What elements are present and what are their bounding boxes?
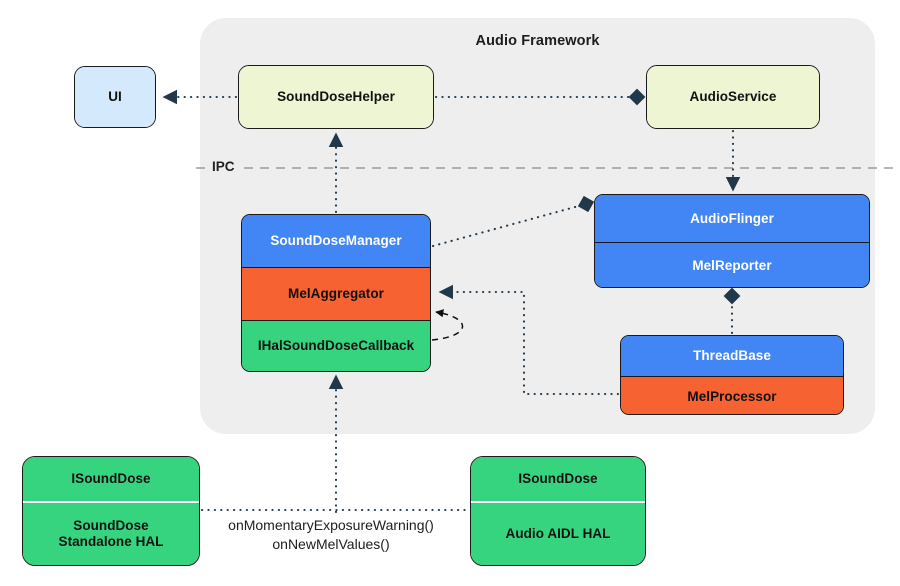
node-audio-service-label: AudioService (647, 66, 819, 128)
ipc-boundary-label: IPC (208, 159, 239, 174)
node-ihal-sound-dose-callback[interactable]: IHalSoundDoseCallback (242, 320, 430, 371)
node-mel-reporter[interactable]: MelReporter (595, 242, 869, 288)
node-audio-flinger-title: AudioFlinger (595, 195, 869, 242)
node-mel-aggregator[interactable]: MelAggregator (242, 267, 430, 320)
node-sound-dose-manager[interactable]: SoundDoseManager MelAggregator IHalSound… (241, 214, 431, 372)
node-sound-dose-manager-title: SoundDoseManager (242, 215, 430, 267)
node-standalone-hal-name-line1: SoundDose (73, 518, 148, 533)
node-audio-flinger[interactable]: AudioFlinger MelReporter (594, 194, 870, 288)
node-ui[interactable]: UI (74, 66, 156, 128)
node-mel-processor[interactable]: MelProcessor (621, 376, 843, 415)
node-standalone-hal-interface: ISoundDose (23, 457, 199, 501)
node-audio-service[interactable]: AudioService (646, 65, 820, 129)
hal-callback-methods-label: onMomentaryExposureWarning() onNewMelVal… (196, 516, 466, 554)
node-thread-base-title: ThreadBase (621, 336, 843, 376)
node-aidl-hal-name: Audio AIDL HAL (471, 501, 645, 565)
node-audio-aidl-hal[interactable]: ISoundDose Audio AIDL HAL (470, 456, 646, 566)
node-ui-label: UI (75, 67, 155, 127)
node-sound-dose-helper-label: SoundDoseHelper (239, 66, 433, 128)
framework-title: Audio Framework (200, 33, 875, 49)
node-sound-dose-helper[interactable]: SoundDoseHelper (238, 65, 434, 129)
node-aidl-hal-interface: ISoundDose (471, 457, 645, 501)
node-sounddose-standalone-hal[interactable]: ISoundDose SoundDose Standalone HAL (22, 456, 200, 566)
node-thread-base[interactable]: ThreadBase MelProcessor (620, 335, 844, 415)
node-standalone-hal-name-line2: Standalone HAL (59, 534, 164, 549)
node-standalone-hal-name: SoundDose Standalone HAL (23, 501, 199, 565)
architecture-diagram: Audio Framework IPC UI SoundDoseHelper A… (0, 0, 900, 586)
